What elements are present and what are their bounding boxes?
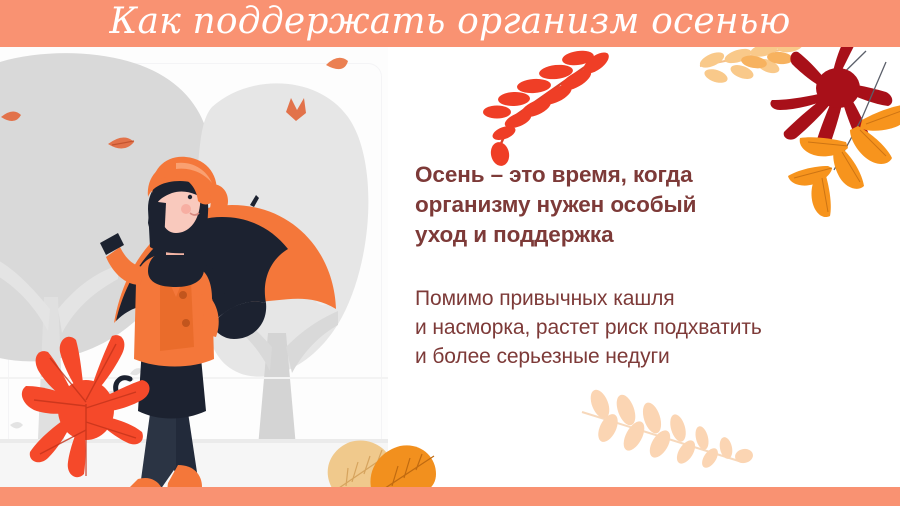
coat-button-bottom <box>182 319 190 327</box>
lead-paragraph: Осень – это время, когда организму нужен… <box>415 160 870 250</box>
coat-button-top <box>179 291 187 299</box>
illustration-panel <box>0 47 388 487</box>
lead-line-3: уход и поддержка <box>415 220 870 250</box>
text-content-block: Осень – это время, когда организму нужен… <box>415 160 870 371</box>
ground-line <box>0 439 388 443</box>
footer-band <box>0 487 900 506</box>
eye <box>188 195 192 199</box>
red-rowan-branch-top-left <box>483 49 612 168</box>
body-paragraph: Помимо привычных кашля и насморка, расте… <box>415 284 870 371</box>
body-line-3: и более серьезные недуги <box>415 342 870 371</box>
peach-branch-bottom-right <box>582 387 754 470</box>
body-line-1: Помимо привычных кашля <box>415 284 870 313</box>
autumn-woman-illustration <box>0 47 388 487</box>
body-line-2: и насморка, растет риск подхватить <box>415 313 870 342</box>
lead-line-2: организму нужен особый <box>415 190 870 220</box>
lead-line-1: Осень – это время, когда <box>415 160 870 190</box>
dark-red-maple-leaf <box>770 36 892 154</box>
cheek-blush <box>181 204 191 214</box>
slide-canvas: Как поддержать организм осенью Осень – э… <box>0 0 900 506</box>
page-title: Как поддержать организм осенью <box>0 0 900 47</box>
